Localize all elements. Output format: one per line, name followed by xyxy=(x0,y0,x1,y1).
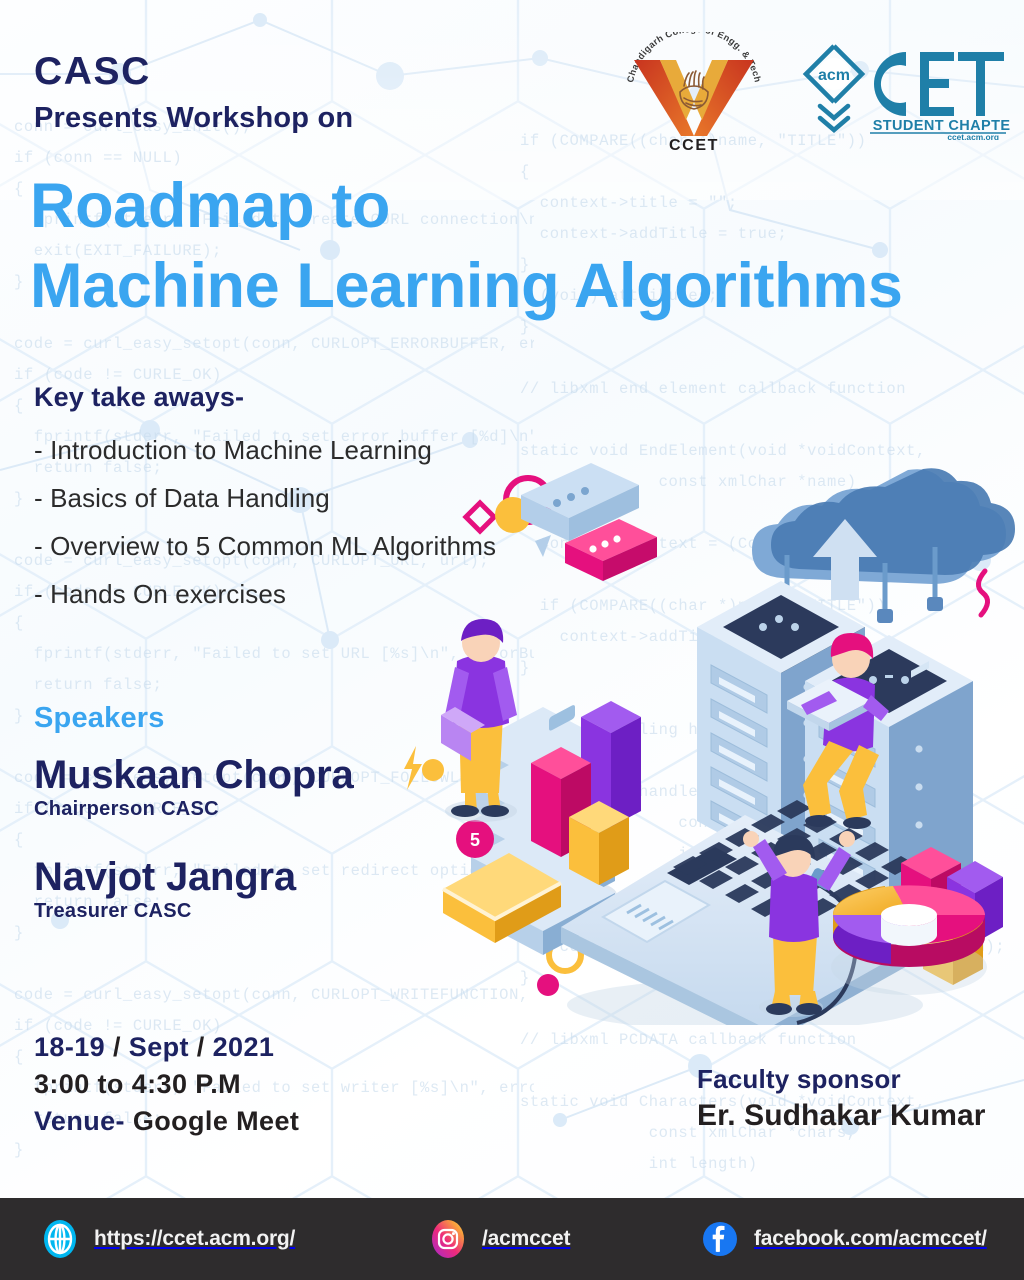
workshop-title: Roadmap to Machine Learning Algorithms xyxy=(30,166,1024,326)
ccet-college-logo: Chandigarh College of Engg. & Tech CCET xyxy=(614,32,774,152)
globe-icon xyxy=(40,1219,80,1259)
footer-bar: https://ccet.acm.org/ /acmccet xyxy=(0,1198,1024,1280)
key-takeaways-list: - Introduction to Machine Learning - Bas… xyxy=(34,435,634,609)
speaker-role: Chairperson CASC xyxy=(34,798,504,821)
presents-subtitle: Presents Workshop on xyxy=(34,100,594,136)
event-date-year: 2021 xyxy=(213,1032,275,1062)
speakers-section: Speakers Muskaan Chopra Chairperson CASC… xyxy=(34,702,504,923)
speaker-name: Muskaan Chopra xyxy=(34,753,354,797)
event-venue-value: Google Meet xyxy=(125,1106,299,1136)
takeaway-item: - Overview to 5 Common ML Algorithms xyxy=(34,531,634,561)
acm-student-chapter-logo: acm STUDENT CHAPTER ccet.acm.org xyxy=(794,40,1010,140)
facebook-link[interactable]: facebook.com/acmccet/ xyxy=(700,1219,987,1259)
event-date-sep: / xyxy=(105,1032,129,1062)
speaker-entry: Navjot Jangra Treasurer CASC xyxy=(34,855,504,923)
speakers-heading: Speakers xyxy=(34,702,504,735)
instagram-handle-text: /acmccet xyxy=(482,1227,570,1251)
website-link[interactable]: https://ccet.acm.org/ xyxy=(40,1219,295,1259)
takeaway-item: - Basics of Data Handling xyxy=(34,483,634,513)
event-details-section: 18-19 / Sept / 2021 3:00 to 4:30 P.M Ven… xyxy=(34,1029,299,1140)
lightning-bolt-icon xyxy=(400,745,426,791)
key-takeaways-heading: Key take aways- xyxy=(34,382,634,413)
logo-row: Chandigarh College of Engg. & Tech CCET xyxy=(594,0,1024,150)
event-date-month: Sept xyxy=(129,1032,189,1062)
event-venue: Venue- Google Meet xyxy=(34,1103,299,1140)
faculty-sponsor-name: Er. Sudhakar Kumar xyxy=(697,1099,986,1133)
event-date: 18-19 / Sept / 2021 xyxy=(34,1029,299,1066)
workshop-title-line-2: Machine Learning Algorithms xyxy=(30,246,1024,326)
key-takeaways-section: Key take aways- - Introduction to Machin… xyxy=(34,382,634,627)
organization-title: CASC xyxy=(34,50,594,94)
event-date-day: 18-19 xyxy=(34,1032,105,1062)
acm-wordmark-text: acm xyxy=(818,67,850,84)
event-time: 3:00 to 4:30 P.M xyxy=(34,1066,299,1103)
takeaway-item: - Hands On exercises xyxy=(34,579,634,609)
event-date-sep: / xyxy=(189,1032,213,1062)
speaker-entry: Muskaan Chopra Chairperson CASC xyxy=(34,753,504,821)
instagram-link[interactable]: /acmccet xyxy=(428,1219,570,1259)
speaker-name: Navjot Jangra xyxy=(34,855,296,899)
website-url-text: https://ccet.acm.org/ xyxy=(94,1227,295,1251)
event-venue-label: Venue- xyxy=(34,1106,125,1136)
header-block: CASC Presents Workshop on xyxy=(34,50,594,136)
bar-yellow xyxy=(569,801,629,885)
donut-chart xyxy=(831,885,987,995)
faculty-sponsor-section: Faculty sponsor Er. Sudhakar Kumar xyxy=(697,1064,986,1133)
facebook-icon xyxy=(700,1219,740,1259)
acm-url-text: ccet.acm.org xyxy=(947,132,999,140)
poster-canvas: conn = curl_easy_init(); if (conn == NUL… xyxy=(0,0,1024,1280)
instagram-icon xyxy=(428,1219,468,1259)
takeaway-item: - Introduction to Machine Learning xyxy=(34,435,634,465)
faculty-sponsor-label: Faculty sponsor xyxy=(697,1064,986,1095)
workshop-title-line-1: Roadmap to xyxy=(30,166,1024,246)
ccet-acronym-text: CCET xyxy=(669,137,719,152)
speaker-role: Treasurer CASC xyxy=(34,900,504,923)
facebook-url-text: facebook.com/acmccet/ xyxy=(754,1227,987,1251)
